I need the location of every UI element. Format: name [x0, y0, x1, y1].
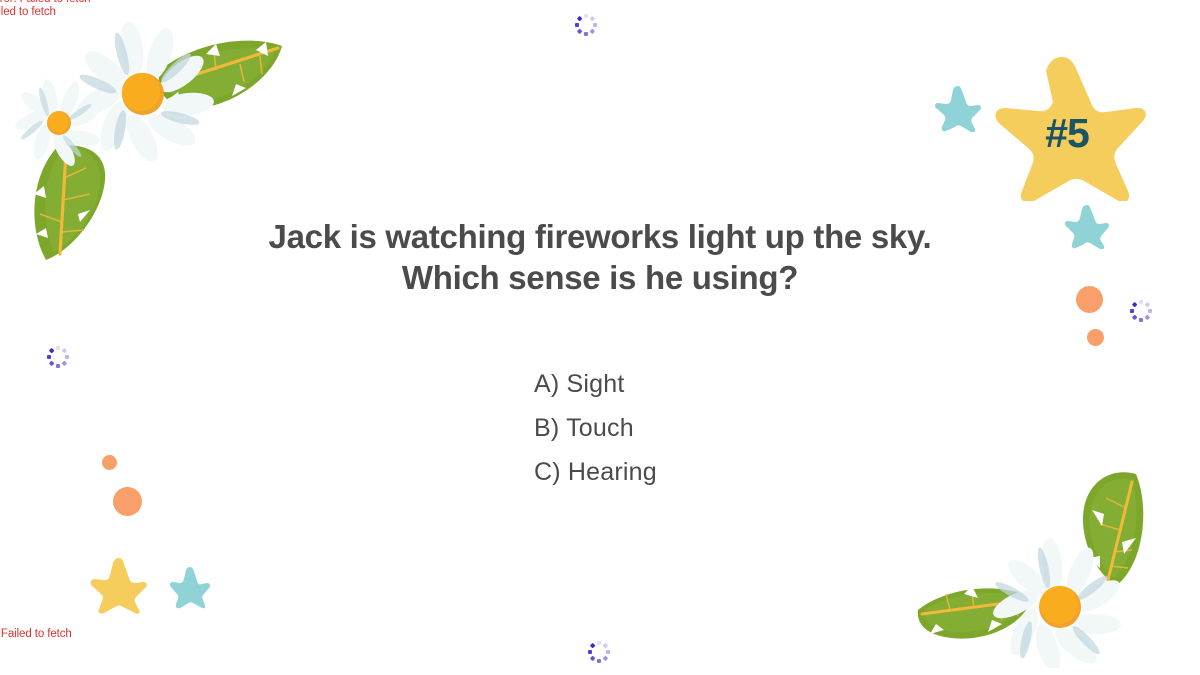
circle-orange-left-large	[113, 487, 142, 516]
answer-option-c[interactable]: C) Hearing	[534, 450, 657, 494]
spinner-left	[47, 346, 69, 368]
leaf-bottom-right-upper	[1083, 472, 1143, 586]
question-line-2: Which sense is he using?	[0, 257, 1200, 298]
star-teal-top-right	[932, 84, 982, 132]
question-line-1: Jack is watching fireworks light up the …	[0, 216, 1200, 257]
spinner-bottom-center	[588, 641, 610, 663]
answer-options-list: A) Sight B) Touch C) Hearing	[534, 362, 657, 494]
star-yellow-bottom-left	[88, 556, 148, 614]
spinner-right	[1130, 300, 1152, 322]
question-number-badge: #5	[978, 53, 1148, 201]
question-number-label: #5	[978, 53, 1148, 201]
circle-orange-right-small	[1087, 329, 1104, 346]
slide-canvas: rror: Failed to fetch ailed to fetch r: …	[0, 0, 1200, 675]
answer-option-b[interactable]: B) Touch	[534, 406, 657, 450]
question-text: Jack is watching fireworks light up the …	[0, 216, 1200, 298]
error-toast-bottom: r: Failed to fetch	[0, 628, 72, 641]
spinner-top-center	[575, 14, 597, 36]
circle-orange-left-small	[102, 455, 117, 470]
star-teal-bottom-left	[167, 565, 211, 609]
answer-option-a[interactable]: A) Sight	[534, 362, 657, 406]
floral-cluster-bottom-right	[900, 468, 1160, 668]
error-toast-top: rror: Failed to fetch ailed to fetch	[0, 0, 90, 19]
